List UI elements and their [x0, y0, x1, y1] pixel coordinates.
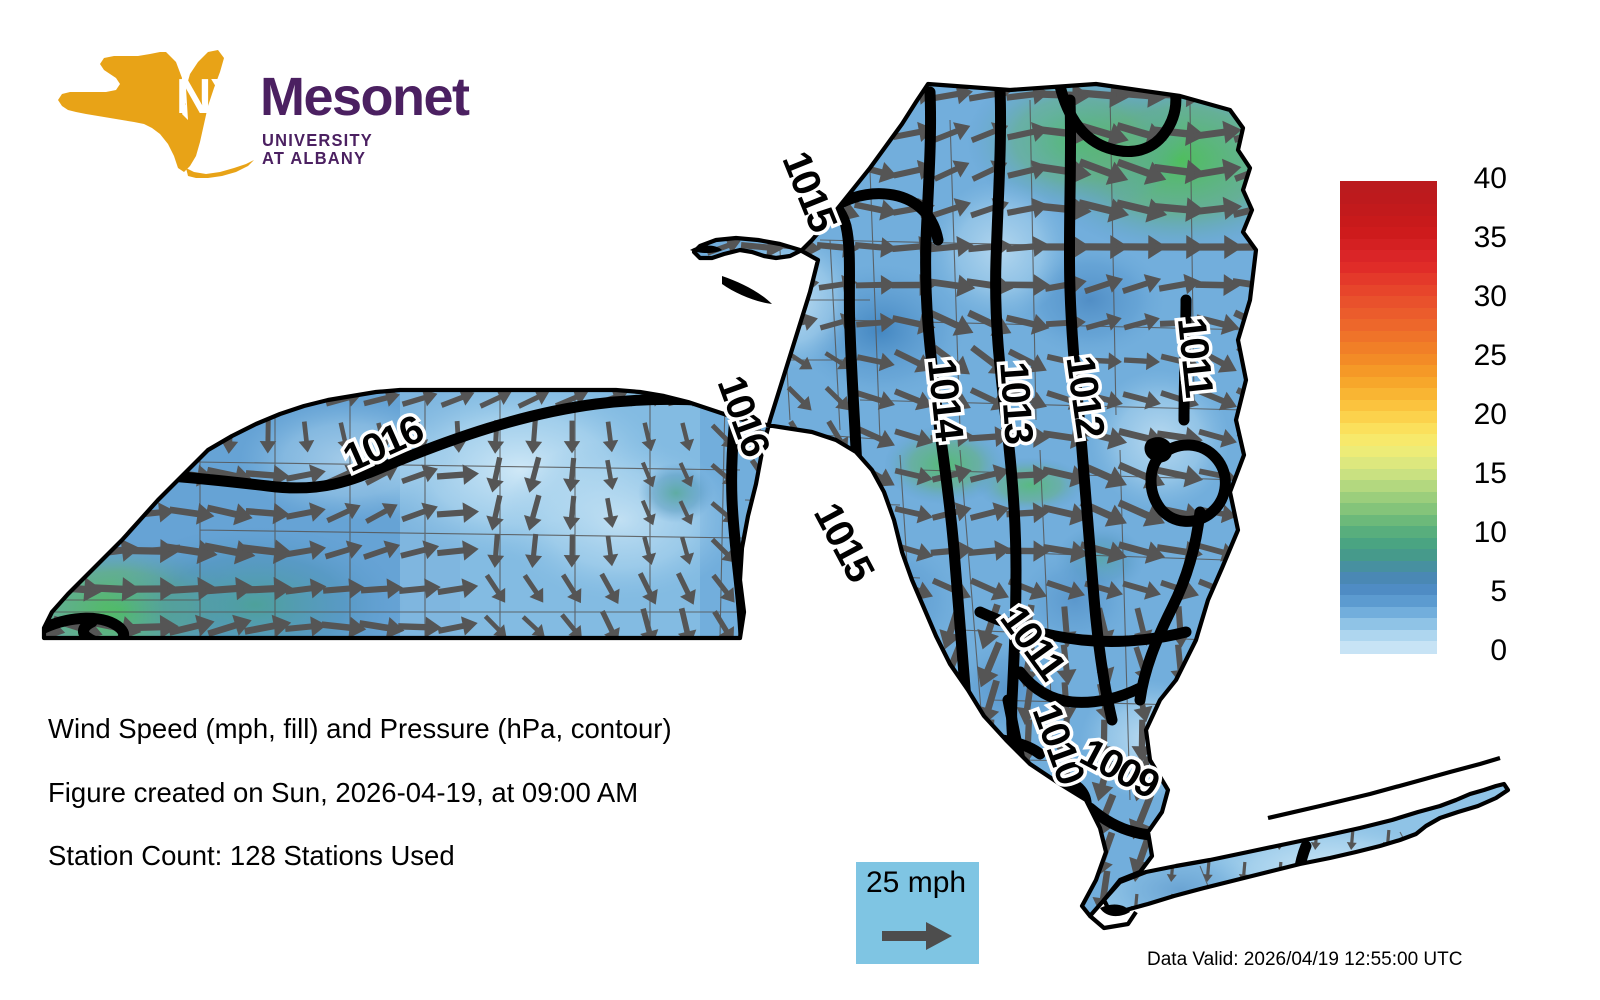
wind-arrow	[518, 914, 550, 949]
colorbar-segment	[1340, 618, 1437, 630]
colorbar-segment	[1340, 446, 1437, 458]
wind-arrow	[95, 460, 137, 491]
wind-arrow	[556, 648, 588, 682]
colorbar-tick-10: 10	[1474, 518, 1507, 548]
wind-arrow	[286, 271, 326, 299]
wind-arrow	[783, 571, 818, 606]
wind-arrow	[627, 273, 668, 297]
colorbar-segment	[1340, 423, 1437, 435]
wind-arrow	[628, 233, 667, 262]
wind-arrow	[745, 760, 780, 799]
wind-arrow	[628, 313, 669, 334]
wind-arrow	[1274, 894, 1286, 915]
wind-arrow	[249, 384, 288, 414]
colorbar-segment	[1340, 262, 1437, 274]
colorbar-segment	[1340, 250, 1437, 262]
wind-arrow	[172, 233, 212, 262]
wind-arrow	[1233, 571, 1279, 606]
wind-arrow	[552, 233, 592, 262]
wind-arrow	[58, 459, 98, 492]
wind-arrow	[745, 532, 780, 570]
wind-arrow	[856, 652, 897, 677]
wind-arrow	[1243, 758, 1270, 801]
wind-arrow	[1204, 679, 1232, 726]
wind-arrow	[745, 874, 780, 912]
colorbar-segment	[1340, 181, 1437, 193]
wind-arrow	[783, 914, 817, 947]
wind-arrow	[1359, 719, 1381, 762]
wind-arrow	[1274, 638, 1313, 691]
colorbar-segment	[1340, 227, 1437, 239]
wind-arrow	[20, 273, 61, 298]
colorbar-segment	[1340, 193, 1437, 205]
wind-arrow	[1238, 677, 1273, 728]
wind-arrow	[1016, 834, 1040, 877]
colorbar-tick-25: 25	[1474, 341, 1507, 371]
wind-arrow	[1473, 682, 1495, 725]
colorbar-segment	[1340, 204, 1437, 216]
wind-arrow	[516, 269, 552, 300]
wind-arrow	[1271, 571, 1317, 606]
wind-arrow	[475, 197, 516, 221]
wind-arrow	[937, 796, 966, 838]
wind-arrow	[669, 117, 703, 148]
colorbar-tick-0: 0	[1490, 636, 1507, 666]
colorbar-tick-15: 15	[1474, 459, 1507, 489]
colorbar-tick-20: 20	[1474, 400, 1507, 430]
wind-arrow	[58, 351, 99, 372]
long-island-contours	[1298, 846, 1306, 908]
wind-arrow	[552, 196, 593, 222]
colorbar-segment	[1340, 377, 1437, 389]
wind-arrow	[554, 346, 591, 377]
wind-arrow	[53, 535, 104, 566]
wind-arrow	[892, 725, 937, 758]
wind-arrow	[320, 650, 369, 680]
wind-arrow	[323, 350, 364, 373]
wind-arrow	[1320, 908, 1345, 953]
wind-arrow	[57, 273, 98, 296]
wind-arrow	[1238, 894, 1250, 915]
wind-arrow	[745, 723, 780, 760]
wind-arrow	[821, 688, 854, 718]
wind-arrow	[774, 114, 825, 151]
wind-arrow	[1382, 894, 1394, 915]
wind-arrow	[745, 797, 780, 836]
wind-arrow	[590, 309, 630, 336]
wind-arrow	[739, 195, 785, 223]
colorbar-segment	[1340, 308, 1437, 320]
wind-arrow	[1418, 894, 1430, 915]
wind-arrow	[361, 312, 403, 333]
wind-arrow	[249, 270, 286, 301]
wind-arrow	[129, 919, 179, 944]
wind-arrow	[14, 575, 66, 602]
wind-arrow	[286, 309, 326, 337]
wind-arrow	[243, 917, 294, 945]
wind-arrow	[1344, 82, 1396, 108]
wind-arrow	[1458, 119, 1511, 147]
wind-arrow	[777, 81, 823, 109]
wind-arrow	[553, 270, 591, 300]
wind-arrow	[60, 193, 95, 224]
wind-arrow	[174, 270, 210, 301]
wind-arrow	[977, 758, 1003, 801]
wind-arrow	[822, 833, 854, 876]
colorbar-segment	[1340, 296, 1437, 308]
wind-arrow	[210, 233, 250, 262]
wind-arrow	[554, 308, 590, 339]
colorbar-segment	[1340, 641, 1437, 653]
colorbar	[1340, 181, 1437, 653]
wind-arrow	[88, 647, 144, 684]
colorbar-tick-5: 5	[1490, 577, 1507, 607]
wind-arrow	[324, 312, 365, 333]
wind-arrow	[1397, 720, 1418, 763]
wind-arrow	[1268, 303, 1320, 343]
wind-arrow	[975, 907, 1004, 955]
wind-arrow	[1238, 466, 1274, 484]
wind-arrow	[783, 612, 816, 642]
wind-arrow	[707, 801, 741, 833]
wind-arrow	[1420, 81, 1473, 109]
wind-arrow	[591, 118, 629, 148]
wind-arrow	[1166, 830, 1178, 851]
colorbar-segment	[1340, 526, 1437, 538]
wind-arrow	[15, 536, 66, 566]
wind-arrow	[821, 613, 854, 642]
wind-arrow	[707, 762, 742, 796]
wind-arrow	[1269, 153, 1319, 189]
wind-arrow	[893, 804, 935, 831]
wind-arrow	[1055, 910, 1077, 953]
wind-arrow	[1490, 862, 1502, 883]
contour-label-1015: 1015	[805, 496, 883, 590]
wind-arrow	[740, 82, 784, 107]
wind-arrow	[398, 692, 442, 714]
wind-arrow	[518, 650, 549, 679]
contour-label-1011: 1011	[1169, 315, 1221, 400]
wind-arrow	[96, 385, 136, 413]
wind-arrow	[705, 194, 743, 224]
wind-arrow	[627, 350, 668, 372]
wind-arrow	[1394, 869, 1422, 916]
wind-arrow	[853, 761, 900, 798]
wind-arrow	[707, 875, 742, 911]
wind-arrow	[439, 270, 478, 300]
wind-arrow	[96, 272, 137, 298]
wind-arrow	[975, 796, 1004, 838]
wind-arrow	[145, 421, 163, 454]
wind-arrow	[673, 644, 698, 686]
wind-arrow	[1432, 869, 1459, 916]
wind-arrow	[58, 233, 97, 262]
wind-arrow	[629, 80, 667, 110]
wind-arrow	[479, 345, 514, 376]
wind-arrow	[129, 690, 179, 715]
wind-arrow	[518, 307, 551, 338]
wind-arrow	[821, 914, 855, 947]
wind-arrow	[939, 758, 965, 801]
wind-arrow	[284, 653, 327, 677]
wind-arrow	[821, 873, 856, 913]
wind-arrow	[745, 648, 780, 682]
wind-arrow	[1310, 862, 1322, 883]
wind-arrow	[1054, 870, 1079, 915]
colorbar-segment	[1340, 434, 1437, 446]
colorbar-segment	[1340, 549, 1437, 561]
wind-arrow	[134, 233, 174, 262]
colorbar-segment	[1340, 342, 1437, 354]
wind-arrow	[822, 652, 854, 679]
wind-arrow	[205, 647, 254, 683]
wind-arrow	[438, 157, 478, 184]
wind-arrow	[475, 122, 516, 145]
wind-arrow	[852, 797, 900, 836]
wind-arrow	[1204, 603, 1233, 651]
wind-arrow	[58, 386, 99, 413]
wind-arrow	[326, 193, 362, 224]
wind-arrow	[129, 652, 179, 678]
wind-arrow	[286, 347, 326, 375]
wind-arrow	[671, 911, 701, 951]
wind-arrow	[784, 651, 816, 678]
wind-arrow	[1203, 641, 1234, 690]
wind-arrow	[1241, 796, 1271, 838]
wind-arrow	[595, 645, 626, 685]
wind-arrow	[1238, 504, 1273, 522]
wind-arrow	[361, 273, 402, 296]
wind-arrow	[1269, 116, 1319, 150]
wind-arrow	[631, 155, 665, 186]
wind-arrow	[707, 645, 741, 686]
wind-arrow	[1236, 539, 1276, 564]
wind-arrow	[1273, 424, 1314, 450]
colorbar-segment	[1340, 572, 1437, 584]
wind-arrow	[401, 194, 438, 225]
wind-arrow	[940, 719, 963, 763]
long-island-silhouette	[186, 160, 254, 178]
wind-arrow	[19, 349, 60, 372]
wind-arrow	[672, 682, 700, 723]
wind-arrow	[513, 197, 554, 220]
wind-arrow	[1346, 862, 1358, 883]
colorbar-segment	[1340, 239, 1437, 251]
wind-arrow	[739, 119, 785, 147]
wind-arrow	[552, 120, 593, 145]
wind-arrow	[707, 912, 742, 951]
wind-arrow	[1269, 193, 1319, 226]
wind-arrow	[1274, 538, 1315, 563]
wind-arrow	[1276, 601, 1312, 653]
wind-arrow	[321, 691, 367, 716]
colorbar-segment	[1340, 354, 1437, 366]
wind-arrow	[517, 345, 551, 376]
wind-arrow	[478, 269, 514, 300]
colorbar-tick-35: 35	[1474, 223, 1507, 253]
wind-arrow	[1418, 114, 1474, 152]
wind-arrow	[1380, 114, 1437, 153]
wind-arrow	[324, 233, 363, 262]
wind-arrow	[707, 722, 742, 759]
wind-arrow	[1281, 758, 1307, 801]
wind-arrow	[591, 194, 630, 224]
wind-arrow	[705, 118, 742, 149]
wind-arrow	[590, 233, 629, 262]
wind-arrow	[514, 81, 554, 108]
wind-arrow	[284, 691, 327, 715]
wind-arrow	[1269, 235, 1319, 259]
wind-arrow	[633, 911, 663, 951]
wind-arrow	[893, 764, 936, 793]
logo-mesonet-text: Mesonet	[260, 70, 469, 124]
wind-arrow	[1238, 830, 1250, 851]
wind-arrow	[783, 758, 817, 799]
wind-arrow	[704, 348, 745, 374]
data-valid-timestamp: Data Valid: 2026/04/19 12:55:00 UTC	[1147, 950, 1462, 969]
colorbar-tick-40: 40	[1474, 164, 1507, 194]
wind-arrow	[1241, 907, 1271, 955]
wind-arrow	[364, 193, 399, 224]
wind-arrow	[402, 155, 438, 186]
wind-arrow	[590, 347, 630, 374]
colorbar-segment	[1340, 492, 1437, 504]
wind-arrow	[821, 758, 854, 800]
wind-arrow	[1434, 910, 1458, 953]
wind-arrow	[556, 913, 588, 949]
wind-arrow	[1282, 872, 1305, 915]
wind-arrow	[286, 194, 325, 223]
wind-arrow	[175, 307, 209, 338]
wind-arrow	[706, 156, 743, 187]
wind-arrow	[1454, 894, 1466, 915]
wind-arrow	[400, 233, 439, 262]
wind-arrow	[106, 421, 127, 453]
colorbar-segment	[1340, 538, 1437, 550]
wind-arrow	[19, 312, 60, 334]
wind-arrow	[784, 453, 816, 496]
caption-title: Wind Speed (mph, fill) and Pressure (hPa…	[48, 715, 672, 743]
wind-arrow	[822, 795, 853, 839]
colorbar-tick-labels: 4035302520151050	[1447, 160, 1507, 675]
wind-arrow	[324, 273, 365, 298]
wind-arrow	[1321, 719, 1344, 763]
wind-arrow	[436, 918, 479, 944]
wind-arrow	[438, 233, 478, 262]
wind-arrow	[1358, 682, 1382, 725]
colorbar-segment	[1340, 607, 1437, 619]
wind-arrow	[95, 498, 137, 529]
wind-arrow	[399, 311, 440, 335]
wind-arrow	[670, 875, 702, 911]
wind-arrow	[250, 346, 286, 377]
wind-arrow	[630, 193, 666, 224]
wind-arrow	[1322, 872, 1343, 914]
wind-arrow	[1269, 81, 1320, 108]
wind-arrow	[243, 649, 293, 682]
wind-arrow	[670, 155, 703, 186]
wind-arrow	[665, 313, 706, 334]
figure-caption: Wind Speed (mph, fill) and Pressure (hPa…	[48, 715, 672, 906]
wind-arrow	[248, 196, 289, 222]
wind-arrow	[439, 346, 478, 376]
wind-arrow	[1166, 793, 1195, 841]
wind-arrow	[854, 725, 899, 757]
wind-arrow	[815, 81, 861, 109]
wind-arrow	[1015, 908, 1040, 954]
wind-arrow	[1279, 907, 1308, 955]
colorbar-segment	[1340, 584, 1437, 596]
wind-arrow	[20, 233, 59, 262]
wind-arrow	[1206, 796, 1231, 839]
wind-key-label: 25 mph	[866, 868, 966, 898]
wind-arrow	[167, 917, 218, 946]
wind-arrow	[1346, 894, 1358, 915]
wind-arrow	[12, 646, 68, 684]
wind-arrow	[1051, 793, 1081, 841]
wind-arrow	[514, 233, 554, 262]
colorbar-segment	[1340, 331, 1437, 343]
wind-arrow	[822, 453, 854, 496]
wind-arrow	[95, 349, 136, 373]
wind-arrow	[1236, 638, 1276, 692]
wind-arrow	[1490, 894, 1502, 915]
wind-arrow	[248, 233, 288, 262]
wind-arrow	[513, 160, 555, 181]
wind-arrow	[1167, 756, 1193, 802]
wind-arrow	[1490, 830, 1502, 851]
wind-arrow	[58, 497, 98, 530]
wind-arrow	[174, 345, 209, 376]
wind-arrow	[51, 915, 106, 947]
wind-arrow	[13, 916, 67, 946]
wind-arrow	[1269, 271, 1319, 300]
wind-arrow	[1205, 908, 1231, 954]
caption-created: Figure created on Sun, 2026-04-19, at 09…	[48, 779, 672, 807]
wind-arrow	[1319, 680, 1345, 726]
wind-arrow	[670, 763, 702, 796]
wind-arrow	[479, 307, 513, 338]
colorbar-segment	[1340, 469, 1437, 481]
wind-arrow	[19, 459, 60, 490]
wind-arrow	[745, 686, 780, 721]
wind-key-arrow-icon	[882, 920, 954, 952]
wind-arrow	[67, 421, 89, 453]
wind-arrow	[594, 912, 625, 951]
wind-arrow	[1016, 796, 1040, 839]
wind-arrow	[19, 497, 60, 529]
wind-arrow	[213, 345, 247, 376]
wind-arrow	[167, 648, 217, 682]
wind-arrow	[821, 723, 856, 759]
wind-arrow	[398, 920, 441, 943]
weather-map-figure: 1015101610161015101410131012101110111010…	[0, 0, 1600, 1000]
wind-arrow	[812, 114, 864, 152]
colorbar-tick-30: 30	[1474, 282, 1507, 312]
wind-arrow	[783, 873, 818, 912]
colorbar-segment	[1340, 480, 1437, 492]
colorbar-segment	[1340, 273, 1437, 285]
wind-arrow	[1343, 117, 1398, 149]
wind-arrow	[1277, 678, 1311, 729]
wind-arrow	[183, 420, 201, 454]
wind-arrow	[1276, 466, 1312, 485]
wind-arrow	[665, 273, 706, 296]
wind-arrow	[20, 385, 60, 412]
wind-arrow	[745, 610, 780, 645]
wind-arrow	[30, 421, 51, 453]
wind-arrow	[1435, 720, 1456, 763]
